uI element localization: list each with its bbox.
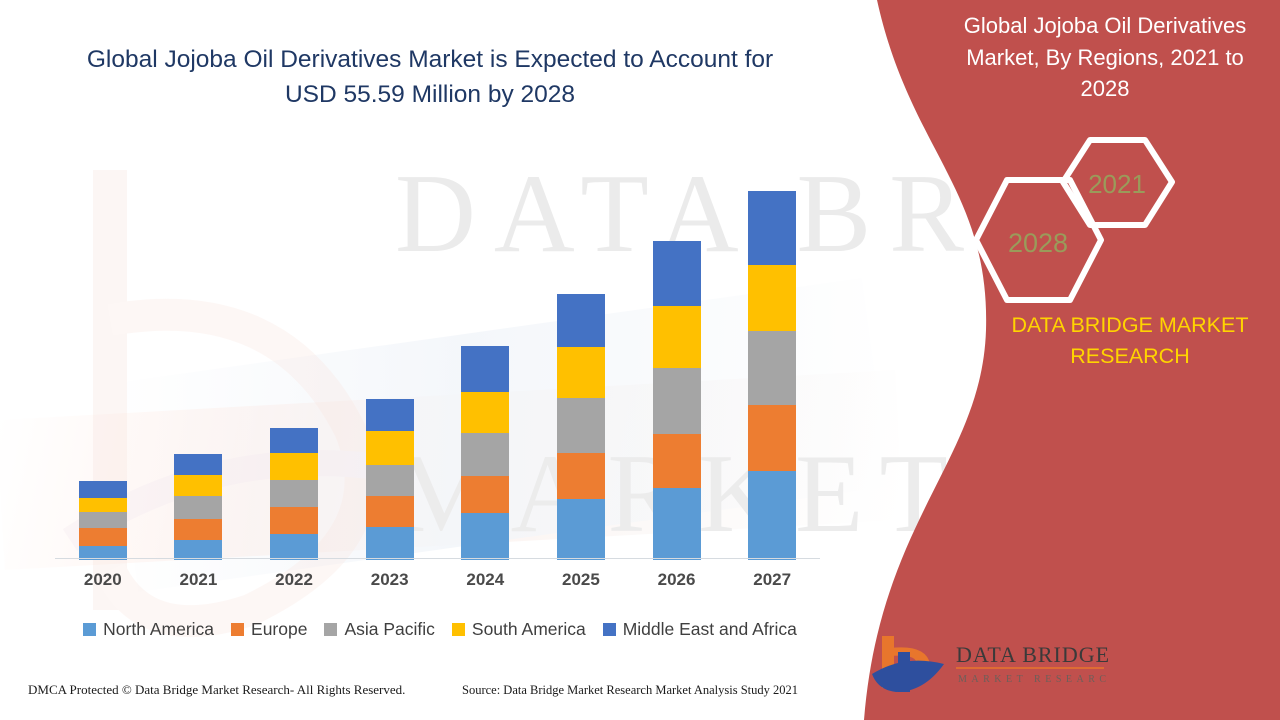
bar-group-2025 bbox=[533, 140, 629, 560]
legend-swatch-icon bbox=[231, 623, 244, 636]
legend-swatch-icon bbox=[83, 623, 96, 636]
bar-segment[interactable] bbox=[461, 476, 509, 513]
bar-segment[interactable] bbox=[461, 513, 509, 560]
legend-item[interactable]: Middle East and Africa bbox=[603, 619, 797, 640]
legend-label: Europe bbox=[251, 619, 307, 640]
stacked-bar[interactable] bbox=[557, 294, 605, 560]
x-tick-2026: 2026 bbox=[629, 570, 725, 590]
bar-segment[interactable] bbox=[366, 431, 414, 465]
bar-segment[interactable] bbox=[653, 241, 701, 306]
bar-segment[interactable] bbox=[461, 433, 509, 476]
bar-segment[interactable] bbox=[653, 488, 701, 560]
bar-segment[interactable] bbox=[653, 306, 701, 368]
legend-swatch-icon bbox=[603, 623, 616, 636]
bar-segment[interactable] bbox=[174, 540, 222, 560]
bar-segment[interactable] bbox=[653, 368, 701, 434]
legend-label: South America bbox=[472, 619, 586, 640]
bar-segment[interactable] bbox=[557, 453, 605, 499]
bar-segment[interactable] bbox=[270, 428, 318, 453]
stacked-bar[interactable] bbox=[653, 241, 701, 560]
stacked-bar[interactable] bbox=[748, 191, 796, 560]
bar-segment[interactable] bbox=[653, 434, 701, 488]
bar-segment[interactable] bbox=[366, 527, 414, 560]
bar-segment[interactable] bbox=[174, 454, 222, 475]
legend-item[interactable]: Europe bbox=[231, 619, 307, 640]
bar-segment[interactable] bbox=[557, 294, 605, 347]
bar-group-2027 bbox=[724, 140, 820, 560]
x-axis-line bbox=[55, 558, 820, 559]
legend-item[interactable]: North America bbox=[83, 619, 214, 640]
bar-segment[interactable] bbox=[461, 346, 509, 392]
x-tick-2023: 2023 bbox=[342, 570, 438, 590]
panel-title: Global Jojoba Oil Derivatives Market, By… bbox=[940, 10, 1270, 105]
stacked-bar-chart bbox=[55, 140, 820, 560]
bar-group-2021 bbox=[150, 140, 246, 560]
logo-mark-icon bbox=[872, 636, 944, 692]
x-tick-2027: 2027 bbox=[724, 570, 820, 590]
x-tick-2021: 2021 bbox=[150, 570, 246, 590]
stacked-bar[interactable] bbox=[366, 399, 414, 560]
x-tick-2024: 2024 bbox=[437, 570, 533, 590]
legend-label: Middle East and Africa bbox=[623, 619, 797, 640]
bar-segment[interactable] bbox=[748, 265, 796, 331]
bar-segment[interactable] bbox=[174, 496, 222, 519]
legend-item[interactable]: South America bbox=[452, 619, 586, 640]
bar-group-2026 bbox=[629, 140, 725, 560]
bar-segment[interactable] bbox=[557, 398, 605, 453]
legend-swatch-icon bbox=[324, 623, 337, 636]
logo-secondary-text: MARKET RESEARCH bbox=[958, 674, 1108, 685]
bar-segment[interactable] bbox=[366, 496, 414, 527]
stacked-bar[interactable] bbox=[461, 346, 509, 560]
bar-group-2020 bbox=[55, 140, 151, 560]
bar-group-2023 bbox=[342, 140, 438, 560]
x-tick-2020: 2020 bbox=[55, 570, 151, 590]
bar-segment[interactable] bbox=[748, 405, 796, 471]
bar-segment[interactable] bbox=[270, 453, 318, 480]
hexagon-2028-label: 2028 bbox=[1008, 228, 1068, 258]
x-axis-tick-labels: 20202021202220232024202520262027 bbox=[55, 570, 820, 596]
legend-item[interactable]: Asia Pacific bbox=[324, 619, 434, 640]
bar-segment[interactable] bbox=[79, 528, 127, 546]
stacked-bar[interactable] bbox=[79, 481, 127, 560]
bar-segment[interactable] bbox=[79, 481, 127, 498]
copyright-notice: DMCA Protected © Data Bridge Market Rese… bbox=[28, 682, 405, 698]
bar-segment[interactable] bbox=[748, 331, 796, 405]
logo-primary-text: DATA BRIDGE bbox=[956, 642, 1108, 667]
bar-group-2024 bbox=[437, 140, 533, 560]
source-note: Source: Data Bridge Market Research Mark… bbox=[462, 683, 798, 698]
bar-segment[interactable] bbox=[557, 499, 605, 560]
bar-segment[interactable] bbox=[748, 471, 796, 560]
bar-segment[interactable] bbox=[174, 475, 222, 496]
bar-segment[interactable] bbox=[557, 347, 605, 398]
bar-group-2022 bbox=[246, 140, 342, 560]
bar-segment[interactable] bbox=[270, 534, 318, 560]
legend-swatch-icon bbox=[452, 623, 465, 636]
legend-label: North America bbox=[103, 619, 214, 640]
bar-segment[interactable] bbox=[79, 512, 127, 528]
year-hexagons: 2021 2028 bbox=[965, 135, 1195, 305]
bar-segment[interactable] bbox=[748, 191, 796, 265]
bar-segment[interactable] bbox=[366, 399, 414, 431]
chart-legend: North AmericaEuropeAsia PacificSouth Ame… bbox=[55, 617, 825, 641]
bar-segment[interactable] bbox=[79, 498, 127, 512]
chart-panel: Global Jojoba Oil Derivatives Market is … bbox=[0, 0, 860, 720]
bar-segment[interactable] bbox=[270, 480, 318, 507]
x-tick-2025: 2025 bbox=[533, 570, 629, 590]
bar-segment[interactable] bbox=[366, 465, 414, 496]
bar-segment[interactable] bbox=[270, 507, 318, 534]
hexagon-2021-label: 2021 bbox=[1088, 169, 1146, 199]
data-bridge-logo: DATA BRIDGE MARKET RESEARCH bbox=[868, 630, 1108, 700]
brand-name: DATA BRIDGE MARKET RESEARCH bbox=[985, 310, 1275, 372]
bar-segment[interactable] bbox=[461, 392, 509, 433]
legend-label: Asia Pacific bbox=[344, 619, 434, 640]
bar-segment[interactable] bbox=[174, 519, 222, 540]
x-tick-2022: 2022 bbox=[246, 570, 342, 590]
page-title: Global Jojoba Oil Derivatives Market is … bbox=[60, 42, 800, 113]
stacked-bar[interactable] bbox=[270, 428, 318, 560]
stacked-bar[interactable] bbox=[174, 454, 222, 560]
